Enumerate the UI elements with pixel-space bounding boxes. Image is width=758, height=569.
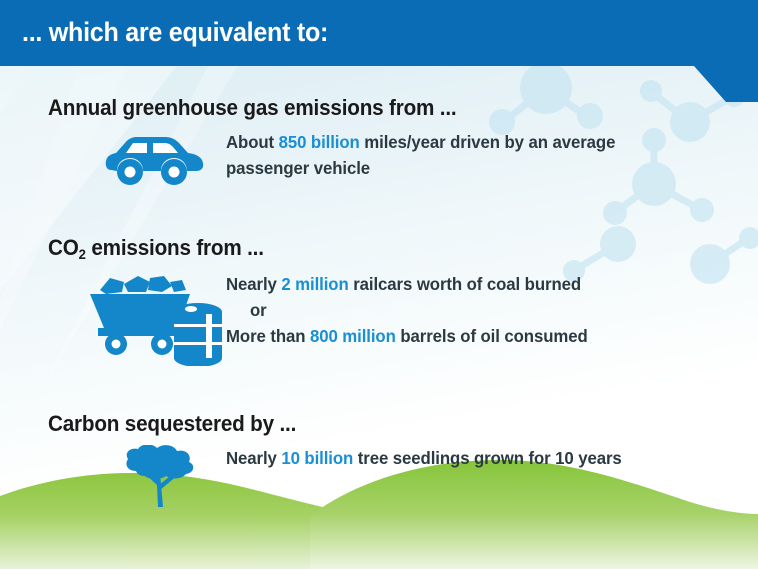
fact-suffix: railcars worth of coal burned [349,274,581,294]
tree-icon [112,445,212,507]
fact-highlight: 10 billion [281,448,353,468]
oil-barrel-icon [174,303,222,366]
fact-prefix: About [226,132,279,152]
section-co2-emissions: CO2 emissions from ... [0,234,758,311]
section-heading-co2-subscript: 2 [79,246,86,262]
section-heading-co2-suffix: emissions from ... [86,235,264,260]
section-body-vehicle: About 850 billion miles/year driven by a… [0,129,758,169]
section-vehicle-emissions: Annual greenhouse gas emissions from ...… [0,94,758,169]
fact-highlight: 2 million [281,274,348,294]
fact-prefix: More than [226,326,310,346]
fact-prefix: or [250,300,267,320]
section-body-carbon: Nearly 10 billion tree seedlings grown f… [0,445,758,485]
fact-line: passenger vehicle [226,155,725,181]
fact-highlight: 850 billion [279,132,360,152]
fact-suffix: barrels of oil consumed [396,326,588,346]
coal-railcar-and-oil-barrel-icon [86,274,226,366]
section-heading-carbon-ellipsis: ... [279,411,296,436]
section-heading-vehicle-text: Annual greenhouse gas emissions from [48,95,440,120]
fact-line: Nearly 2 million railcars worth of coal … [226,271,725,297]
coal-lumps-icon [100,276,186,294]
section-heading-co2-text: CO [48,235,79,260]
slide-canvas: ... which are equivalent to: Annual gree… [0,0,758,569]
text-block-co2: Nearly 2 million railcars worth of coal … [226,271,746,349]
fact-line-or: or [250,297,726,323]
fact-prefix: Nearly [226,274,281,294]
section-heading-vehicle: Annual greenhouse gas emissions from ... [48,94,715,122]
section-carbon-sequestration: Carbon sequestered by ... Nearly 10 bill… [0,410,758,485]
section-heading-carbon: Carbon sequestered by ... [48,410,715,438]
fact-highlight: 800 million [310,326,396,346]
section-body-co2: Nearly 2 million railcars worth of coal … [0,271,758,311]
banner-title: ... which are equivalent to: [22,17,328,48]
text-block-carbon: Nearly 10 billion tree seedlings grown f… [226,445,746,471]
text-block-vehicle: About 850 billion miles/year driven by a… [226,129,746,181]
fact-prefix: Nearly [226,448,281,468]
car-icon [103,132,207,188]
fact-prefix: passenger vehicle [226,158,370,178]
fact-suffix: tree seedlings grown for 10 years [353,448,621,468]
fact-line: Nearly 10 billion tree seedlings grown f… [226,445,725,471]
section-heading-vehicle-ellipsis: ... [440,95,457,120]
fact-line: About 850 billion miles/year driven by a… [226,129,725,155]
fact-line: More than 800 million barrels of oil con… [226,323,725,349]
section-heading-co2: CO2 emissions from ... [48,234,715,264]
fact-suffix: miles/year driven by an average [360,132,616,152]
section-heading-carbon-text: Carbon sequestered by [48,411,279,436]
